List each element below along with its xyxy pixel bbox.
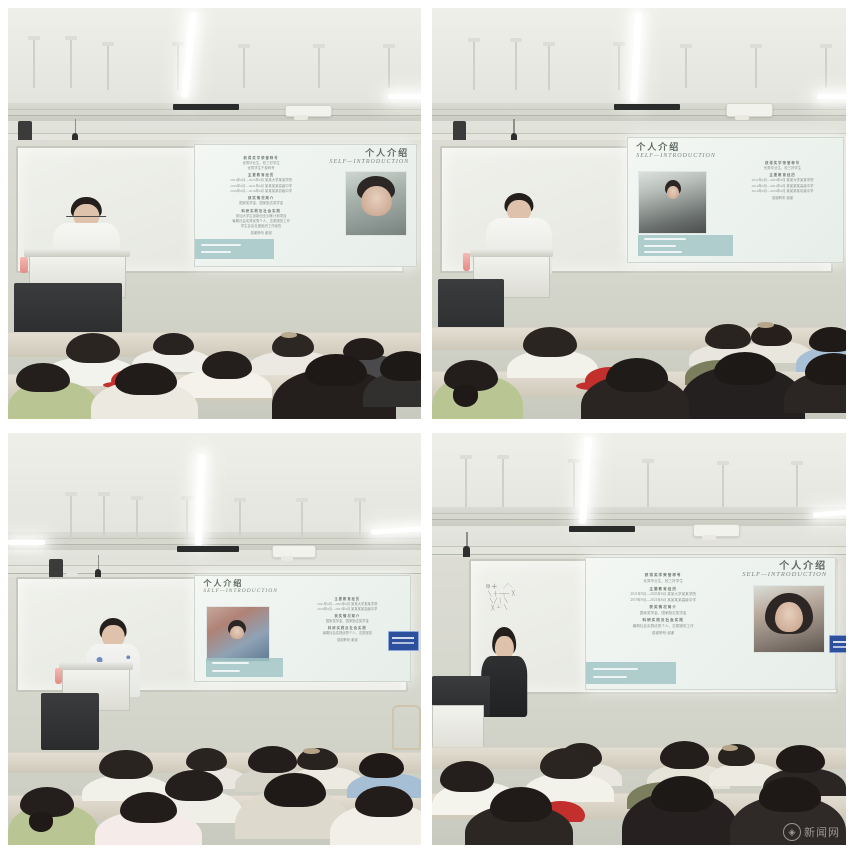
ceiling-hanger-rod	[318, 47, 320, 88]
projected-slide: 个人介绍 SELF—INTRODUCTION 获得奖学荣誉称号 优	[627, 137, 844, 262]
ceiling-hanger-rod	[33, 39, 35, 88]
ceiling-hanger-rod	[301, 501, 303, 540]
ceiling-hanger-rod	[722, 464, 724, 507]
ceiling-projector	[272, 545, 315, 558]
collage-panel-top-left[interactable]: 个人介绍 SELF—INTRODUCTION 获得奖学荣誉称号 优秀毕业生、校三…	[8, 8, 421, 419]
audience-head	[606, 358, 668, 392]
ceiling-dark-bar	[614, 104, 680, 110]
classroom-scene: 个人介绍 SELF—INTRODUCTION 获得奖学荣誉称号 优秀毕业生、校三…	[8, 8, 421, 419]
ceiling-hanger-rod	[239, 501, 241, 540]
slide-body-text: 主要教育经历 2021年9月—2025年6月 某某大学某某学院 2019年9月—…	[298, 597, 397, 643]
audience	[432, 680, 846, 845]
whiteboard-writing: 甲 ╋ ╱╲ ╲ ┼ ─┬─ ╳ ╲ ╱ │ ╲ ╳ ┴ ╲	[485, 584, 515, 613]
audience-head	[99, 750, 153, 780]
collage-panel-top-right[interactable]: 个人介绍 SELF—INTRODUCTION 获得奖学荣誉称号 优	[432, 8, 846, 419]
audience-head	[202, 351, 252, 379]
audience-head	[523, 327, 577, 357]
slide-portrait-photo	[638, 171, 707, 235]
audience-head	[660, 741, 710, 769]
ceiling-hanger-rod	[573, 462, 575, 507]
watermark: ◈ 新闻网	[783, 823, 840, 841]
ceiling-hanger-rod	[186, 499, 188, 540]
photo-collage: 个人介绍 SELF—INTRODUCTION 获得奖学荣誉称号 优秀毕业生、校三…	[0, 0, 854, 853]
audience-head	[16, 363, 70, 393]
ceiling-projector	[285, 105, 332, 118]
classroom-scene: 甲 ╋ ╱╲ ╲ ┼ ─┬─ ╳ ╲ ╱ │ ╲ ╳ ┴ ╲ ╲ ┼ ╳ ┬ ╲…	[432, 433, 846, 845]
ceiling-projector	[726, 103, 774, 117]
water-bottle	[55, 668, 62, 684]
ceiling-hanger-rod	[465, 458, 467, 507]
wall-exit-sign	[388, 631, 419, 652]
ceiling-hanger-rod	[388, 47, 390, 88]
audience-head	[759, 777, 821, 812]
audience	[432, 263, 846, 419]
audience-head	[66, 333, 120, 363]
ceiling-hanger-rod	[685, 47, 687, 88]
fluorescent-light	[388, 94, 421, 99]
audience-head	[714, 352, 776, 385]
slide-name-card	[638, 235, 733, 256]
ceiling-hanger-rod	[359, 501, 361, 540]
ceiling-hanger-rod	[825, 47, 827, 88]
ceiling-hanger-rod	[243, 47, 245, 88]
ceiling-hanger-rod	[755, 47, 757, 88]
audience-head	[651, 776, 713, 812]
watermark-text: 新闻网	[804, 824, 840, 840]
slide-body-text: 获得奖学荣誉称号 优秀毕业生、校三好学生 优秀学生干部称号 主要教育经历 202…	[208, 156, 314, 237]
ceiling-dark-bar	[173, 104, 239, 110]
ceiling-hanger-rod	[70, 495, 72, 540]
slide-portrait-photo	[206, 606, 270, 663]
ceiling-hanger-rod	[107, 45, 109, 90]
audience-head	[305, 354, 367, 387]
audience-head	[705, 324, 751, 349]
audience-head	[264, 773, 326, 807]
fluorescent-light	[8, 540, 45, 545]
projected-slide: 个人介绍 SELF—INTRODUCTION 主要教育经历 2021年9月—20…	[194, 575, 411, 682]
slide-body-text: 获得奖学荣誉称号 优秀毕业生、校三好学生 主要教育经历 2021年9月—2025…	[731, 161, 834, 202]
ceiling-hanger-rod	[796, 464, 798, 507]
ceiling-hanger-rod	[136, 499, 138, 540]
slide-body-text: 获得奖学荣誉称号 优秀毕业生、校三好学生 主要教育经历 2021年9月—2025…	[606, 573, 720, 637]
audience-head	[440, 761, 494, 792]
collage-panel-bottom-left[interactable]: 个人介绍 SELF—INTRODUCTION 主要教育经历 2021年9月—20…	[8, 433, 421, 845]
ceiling-hanger-rod	[647, 462, 649, 507]
ceiling-hanger-rod	[103, 495, 105, 540]
ceiling-dark-bar	[177, 546, 239, 552]
classroom-scene: 个人介绍 SELF—INTRODUCTION 获得奖学荣誉称号 优	[432, 8, 846, 419]
audience-head	[165, 770, 223, 801]
slide-title: 个人介绍 SELF—INTRODUCTION	[742, 562, 827, 579]
ceiling	[432, 433, 846, 565]
ceiling-duct	[432, 546, 846, 555]
slide-name-card	[195, 239, 275, 258]
slide-title: 个人介绍 SELF—INTRODUCTION	[636, 143, 716, 159]
slide-name-card	[206, 658, 283, 677]
ceiling-duct	[432, 513, 846, 520]
collage-panel-bottom-right[interactable]: 甲 ╋ ╱╲ ╲ ┼ ─┬─ ╳ ╲ ╱ │ ╲ ╳ ┴ ╲ ╲ ┼ ╳ ┬ ╲…	[432, 433, 846, 845]
classroom-scene: 个人介绍 SELF—INTRODUCTION 主要教育经历 2021年9月—20…	[8, 433, 421, 845]
ceiling-projector	[693, 524, 741, 538]
slide-title: 个人介绍 SELF—INTRODUCTION	[329, 149, 409, 165]
ceiling-hanger-rod	[548, 45, 550, 90]
slide-portrait-photo	[345, 171, 407, 236]
audience-head	[248, 746, 298, 773]
projected-slide: 个人介绍 SELF—INTRODUCTION 获得奖学荣誉称号 优秀毕业生、校三…	[585, 557, 835, 691]
ceiling-hanger-rod	[618, 45, 620, 90]
wall-speaker	[49, 559, 62, 580]
ceiling-hanger-rod	[515, 41, 517, 90]
ceiling-dark-bar	[569, 526, 635, 532]
slide-title: 个人介绍 SELF—INTRODUCTION	[203, 580, 277, 594]
fluorescent-light	[817, 94, 846, 99]
wall-exit-sign	[829, 635, 846, 653]
ceiling-hanger-rod	[473, 41, 475, 90]
audience	[8, 271, 421, 419]
projected-slide: 个人介绍 SELF—INTRODUCTION 获得奖学荣誉称号 优秀毕业生、校三…	[194, 144, 417, 267]
audience-head	[186, 748, 227, 771]
ceiling-hanger-rod	[502, 458, 504, 507]
ceiling-hanger-rod	[177, 45, 179, 90]
audience	[8, 688, 421, 845]
slide-portrait-photo	[753, 585, 825, 653]
watermark-logo-icon: ◈	[783, 823, 801, 841]
audience-head	[490, 787, 552, 822]
audience-head	[153, 333, 194, 355]
ceiling-hanger-rod	[70, 39, 72, 88]
